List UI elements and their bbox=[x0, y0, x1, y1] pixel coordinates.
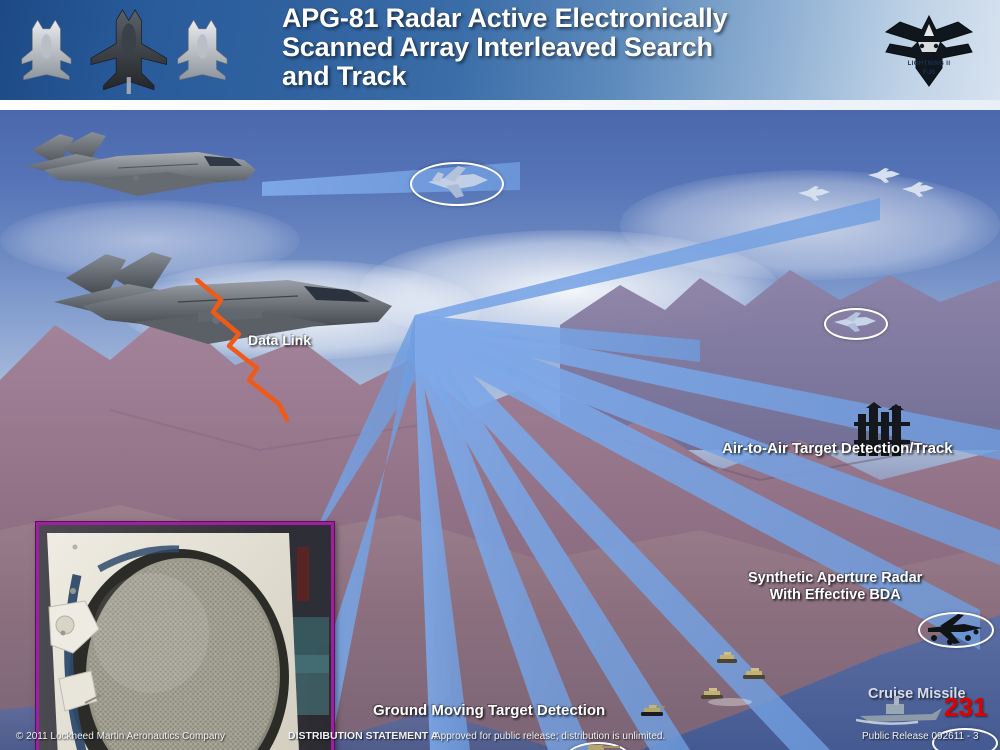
slide-root: APG-81 Radar Active Electronically Scann… bbox=[0, 0, 1000, 750]
footer-distribution-statement-heading: DISTRIBUTION STATEMENT A. bbox=[288, 730, 441, 742]
data-link-bolt bbox=[195, 278, 375, 428]
label-synthetic-aperture-radar: Synthetic Aperture Radar With Effective … bbox=[748, 570, 922, 604]
air-target-far bbox=[830, 310, 878, 334]
air-target-near bbox=[422, 164, 492, 204]
cruise-missile-target bbox=[924, 612, 988, 648]
aesa-antenna-array-photo bbox=[36, 522, 334, 750]
header-banner: APG-81 Radar Active Electronically Scann… bbox=[0, 0, 1000, 100]
footer-public-release: Public Release 092611 - 3 bbox=[862, 731, 979, 742]
label-data-link: Data Link bbox=[248, 332, 311, 349]
ground-moving-tank bbox=[572, 742, 622, 750]
gmti-tank-icon bbox=[640, 704, 666, 718]
label-sar-line2: With Effective BDA bbox=[770, 587, 901, 603]
label-ground-moving-target-detection: Ground Moving Target Detection bbox=[373, 702, 605, 720]
label-air-to-air: Air-to-Air Target Detection/Track bbox=[722, 440, 953, 458]
three-f35-jets-illustration bbox=[8, 8, 258, 94]
page-number: 231 bbox=[944, 692, 987, 723]
footer-distribution-statement-text: Approved for public release; distributio… bbox=[434, 731, 665, 742]
page-title: APG-81 Radar Active Electronically Scann… bbox=[282, 4, 842, 91]
air-target-formation bbox=[796, 168, 936, 218]
footer-copyright: © 2011 Lockheed Martin Aeronautics Compa… bbox=[16, 731, 225, 742]
scene-canvas: #beams polygon { fill: url(#bmG); } [dat… bbox=[0, 110, 1000, 750]
tank-column bbox=[700, 650, 830, 720]
naval-ship-icon bbox=[856, 694, 948, 728]
f35-upper-aircraft bbox=[18, 122, 286, 232]
label-sar-line1: Synthetic Aperture Radar bbox=[748, 570, 922, 586]
f35-lightning-ii-emblem: LIGHTNING II F-35 bbox=[880, 12, 978, 90]
